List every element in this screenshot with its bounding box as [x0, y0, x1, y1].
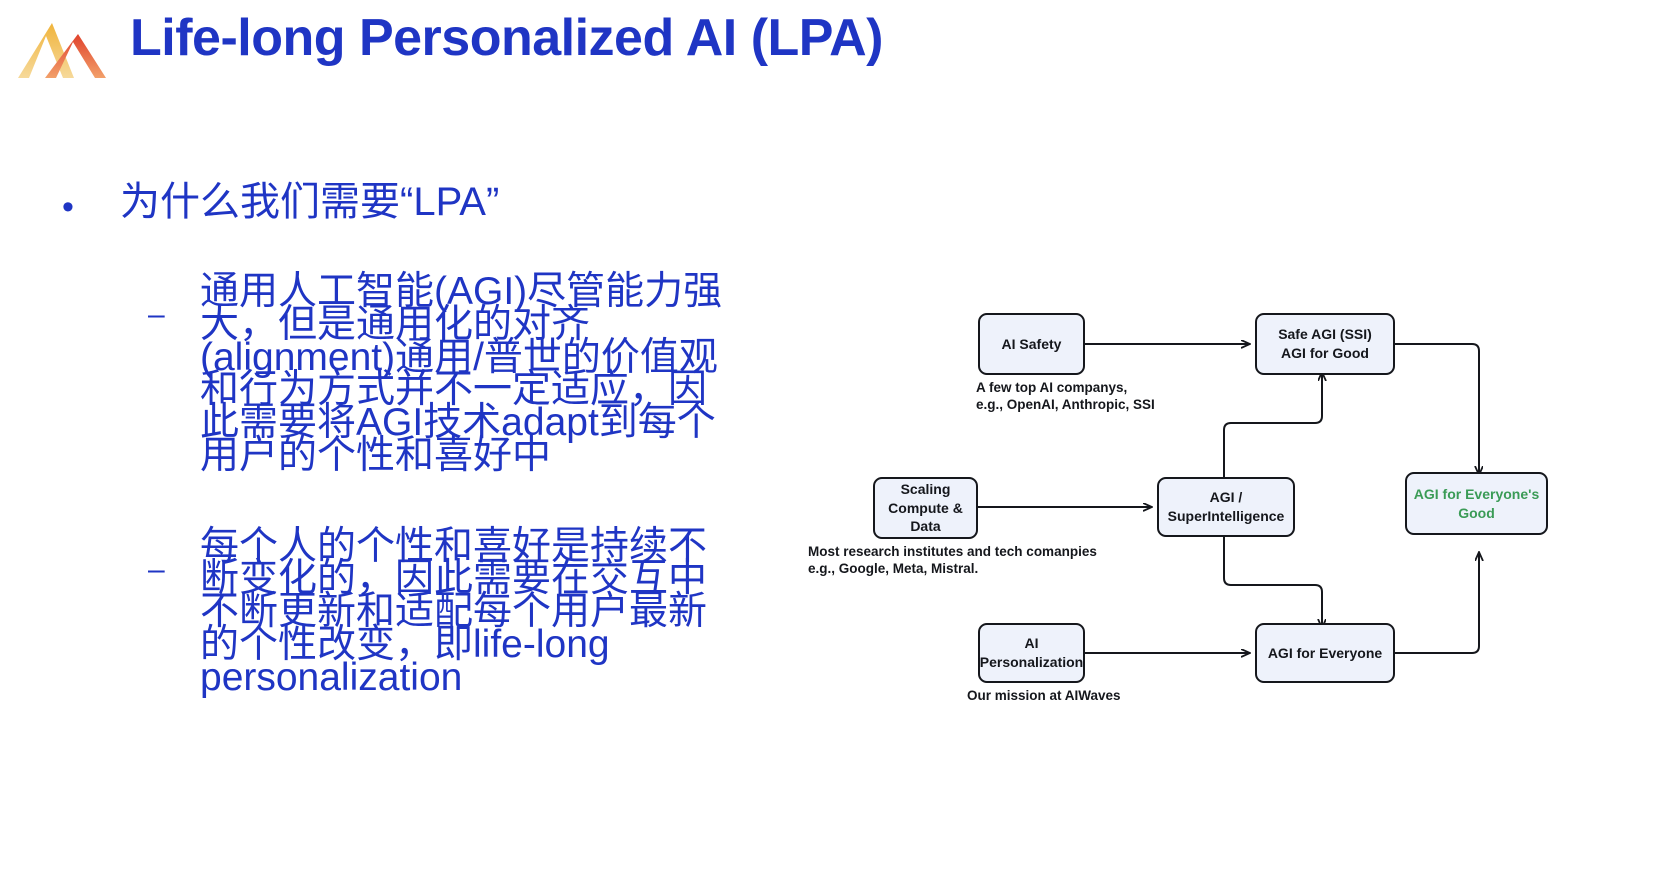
page-title: Life-long Personalized AI (LPA)	[130, 8, 883, 68]
bullet-level2-text-1: 通用人工智能(AGI)尽管能力强大，但是通用化的对齐(alignment)通用/…	[200, 276, 745, 473]
node-safe-agi-label: Safe AGI (SSI) AGI for Good	[1278, 325, 1372, 363]
node-scaling-compute-data[interactable]: Scaling Compute & Data	[873, 477, 978, 539]
bullet-level2-item-1: – 通用人工智能(AGI)尽管能力强大，但是通用化的对齐(alignment)通…	[148, 276, 800, 473]
bullet-level2-item-2: – 每个人的个性和喜好是持续不断变化的，因此需要在交互中不断更新和适配每个用户最…	[148, 531, 800, 695]
node-scaling-label: Scaling Compute & Data	[875, 480, 976, 537]
lpa-flow-diagram: AI Safety Safe AGI (SSI) AGI for Good Sc…	[800, 290, 1676, 720]
dash-marker-icon: –	[148, 531, 200, 585]
caption-scaling: Most research institutes and tech comanp…	[808, 544, 1097, 578]
node-agi-super-label: AGI / SuperIntelligence	[1159, 488, 1293, 526]
caption-ai-personalization: Our mission at AIWaves	[967, 688, 1121, 705]
caption-ai-safety: A few top AI companys, e.g., OpenAI, Ant…	[976, 380, 1155, 414]
content-body: • 为什么我们需要“LPA” – 通用人工智能(AGI)尽管能力强大，但是通用化…	[0, 180, 800, 694]
node-agi-for-everyones-good[interactable]: AGI for Everyone's Good	[1405, 472, 1548, 535]
bullet-level1: • 为什么我们需要“LPA”	[62, 180, 800, 224]
node-agi-everyones-good-label: AGI for Everyone's Good	[1407, 485, 1546, 523]
slide-canvas: Life-long Personalized AI (LPA) • 为什么我们需…	[0, 0, 1676, 872]
node-ai-personalization[interactable]: AI Personalization	[978, 623, 1085, 683]
bullet-level2-text-2: 每个人的个性和喜好是持续不断变化的，因此需要在交互中不断更新和适配每个用户最新的…	[200, 531, 745, 695]
node-agi-superintelligence[interactable]: AGI / SuperIntelligence	[1157, 477, 1295, 537]
node-ai-personalization-label: AI Personalization	[980, 634, 1083, 672]
bullet-marker-icon: •	[62, 180, 120, 224]
dash-marker-icon: –	[148, 276, 200, 330]
node-ai-safety-label: AI Safety	[1002, 335, 1062, 354]
node-ai-safety[interactable]: AI Safety	[978, 313, 1085, 375]
bullet-level1-text: 为什么我们需要“LPA”	[120, 180, 499, 224]
aiwaves-mountain-logo	[8, 20, 118, 82]
node-agi-for-everyone-label: AGI for Everyone	[1268, 644, 1382, 663]
node-agi-for-everyone[interactable]: AGI for Everyone	[1255, 623, 1395, 683]
node-safe-agi[interactable]: Safe AGI (SSI) AGI for Good	[1255, 313, 1395, 375]
